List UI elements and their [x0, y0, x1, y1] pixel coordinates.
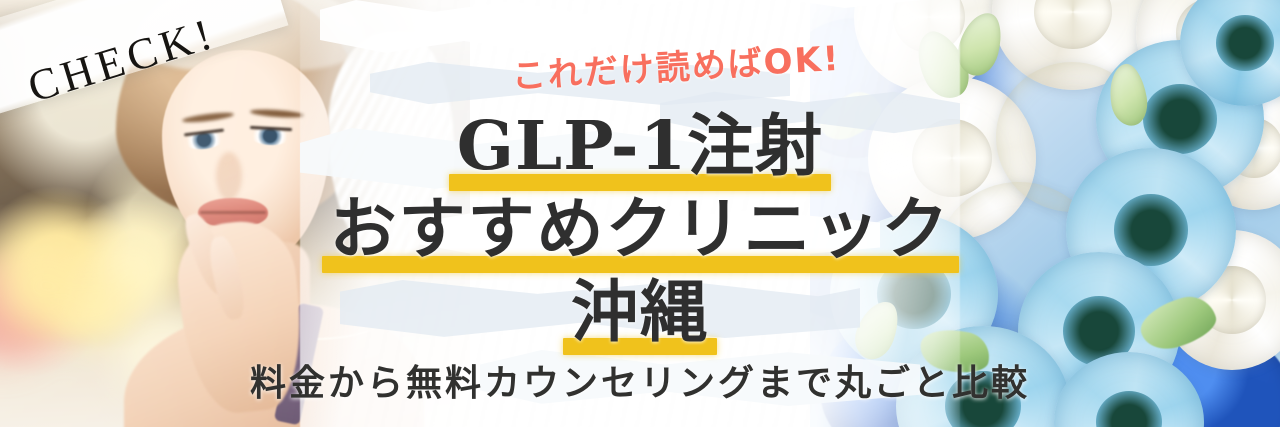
title-line-3-text: 沖縄: [571, 272, 709, 351]
headline-block: これだけ読めばOK! GLP-1注射 おすすめクリニック 沖縄 料金から無料カウ…: [0, 0, 1280, 427]
title-line-2-text: おすすめクリニック: [330, 189, 951, 268]
hero-banner: CHECK! これだけ読めばOK! GLP-1注射 おすすめクリニック 沖縄 料…: [0, 0, 1280, 427]
title-line-1: GLP-1注射: [457, 92, 823, 189]
title-line-1-text: GLP-1注射: [457, 106, 823, 185]
subtitle: 料金から無料カウンセリングまで丸ごと比較: [0, 354, 1280, 406]
title-line-2: おすすめクリニック: [330, 175, 951, 272]
title-line-3-wrap: 沖縄: [0, 258, 1280, 355]
title-line-3: 沖縄: [571, 258, 709, 355]
